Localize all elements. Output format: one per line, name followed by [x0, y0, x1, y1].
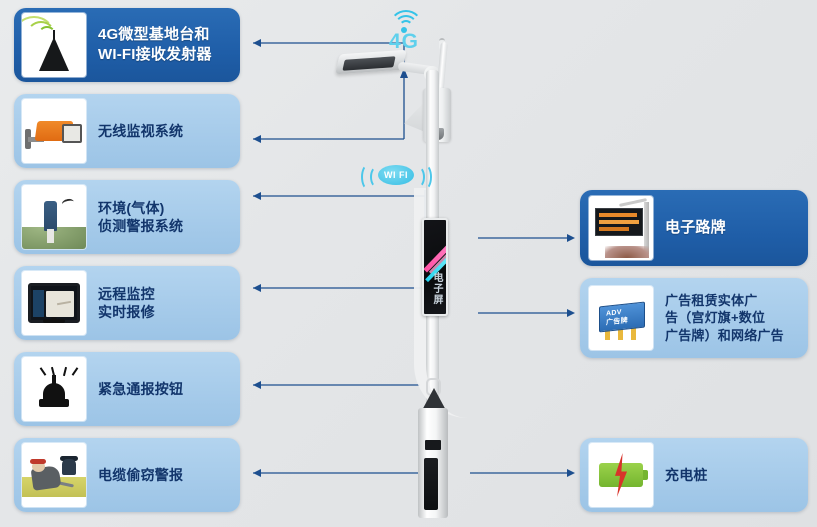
diagram-canvas: 4G WI FI 电子屏: [0, 0, 817, 527]
smart-lamp-post-illustration: 4G WI FI 电子屏: [330, 0, 550, 527]
sign-foliage: [605, 246, 649, 258]
sign-text-line-3: [599, 227, 629, 231]
pole-base-panel: [424, 458, 438, 510]
feature-card-environment-sensor[interactable]: 环境(气体) 侦测警报系统: [14, 180, 240, 254]
feature-card-label: 环境(气体) 侦测警报系统: [98, 199, 183, 236]
charging-pile-icon: [589, 443, 653, 507]
feature-card-cable-theft-alarm[interactable]: 电缆偷窃警报: [14, 438, 240, 512]
wifi-badge: WI FI: [356, 160, 434, 194]
wifi-badge-label: WI FI: [384, 170, 408, 180]
monitor-stand: [43, 319, 65, 323]
alarm-beacon-icon: [22, 357, 86, 421]
feature-card-electronic-road-sign[interactable]: 电子路牌: [580, 190, 808, 266]
feature-card-label: 充电桩: [665, 466, 708, 484]
arrowhead-emergency: [253, 381, 261, 389]
alarm-base: [39, 399, 69, 407]
arrowhead-advertising: [567, 309, 575, 317]
wifi-badge-pill: WI FI: [378, 165, 414, 185]
alarm-ray-4: [72, 367, 79, 376]
cable-theft-icon: [22, 443, 86, 507]
arrowhead-4g: [253, 39, 261, 47]
antenna-tower-icon: [22, 13, 86, 77]
sensor-pedestal: [47, 229, 54, 243]
feature-card-wireless-surveillance[interactable]: 无线监视系统: [14, 94, 240, 168]
alarm-ray-3: [63, 367, 67, 376]
sensor-bird: [61, 198, 74, 208]
sensor-device: [44, 201, 57, 231]
arrowhead-env: [253, 192, 261, 200]
environment-sensor-icon: [22, 185, 86, 249]
alarm-dome: [43, 383, 65, 399]
arrowhead-cctv: [253, 135, 261, 143]
feature-card-label: 远程监控 实时报修: [98, 285, 155, 322]
theft-officer: [62, 459, 76, 475]
arrowhead-theft: [253, 469, 261, 477]
arrowhead-remote: [253, 284, 261, 292]
tower-mast: [39, 37, 69, 71]
feature-card-label: 4G微型基地台和 WI-FI接收发射器: [98, 25, 212, 65]
feature-card-4g-basestation[interactable]: 4G微型基地台和 WI-FI接收发射器: [14, 8, 240, 82]
camera-lens: [62, 124, 82, 143]
feature-card-label: 电子路牌: [665, 218, 726, 238]
pole-base-vent: [425, 440, 441, 450]
feature-card-charging-pile[interactable]: 充电桩: [580, 438, 808, 512]
sign-text-line-2: [599, 220, 639, 224]
arrowhead-roadsign: [567, 234, 575, 242]
feature-card-label: 电缆偷窃警报: [98, 466, 183, 484]
advertising-billboard-icon: ADV广告牌: [589, 286, 653, 350]
sign-led-board: [595, 208, 643, 236]
battery-terminal: [643, 470, 648, 480]
feature-card-emergency-button[interactable]: 紧急通报按钮: [14, 352, 240, 426]
theft-runner-cap: [30, 459, 46, 464]
monitor-map-road: [56, 301, 70, 305]
feature-card-label: 紧急通报按钮: [98, 380, 183, 398]
pole-led-display: 电子屏: [422, 218, 448, 316]
display-screen-text: 电子屏: [429, 272, 444, 305]
wifi-wave-right-outer: [418, 164, 432, 190]
sign-lamp-arm: [619, 198, 647, 207]
monitor-sidebar: [33, 290, 45, 317]
feature-card-remote-monitoring[interactable]: 远程监控 实时报修: [14, 266, 240, 340]
feature-card-advertising[interactable]: ADV广告牌 广告租赁实体广 告（宫灯旗+数位 广告牌）和网络广告: [580, 278, 808, 358]
sign-text-line-1: [599, 213, 637, 217]
arrowhead-charging: [567, 469, 575, 477]
billboard-panel: ADV广告牌: [599, 302, 645, 333]
feature-card-label: 无线监视系统: [98, 122, 183, 140]
cctv-camera-icon: [22, 99, 86, 163]
electronic-road-sign-icon: [589, 196, 653, 260]
monitor-map: [46, 291, 75, 317]
alarm-ray-1: [40, 367, 47, 376]
billboard-text: ADV广告牌: [606, 308, 628, 328]
monitor-screen-icon: [22, 271, 86, 335]
feature-card-label: 广告租赁实体广 告（宫灯旗+数位 广告牌）和网络广告: [665, 292, 784, 345]
